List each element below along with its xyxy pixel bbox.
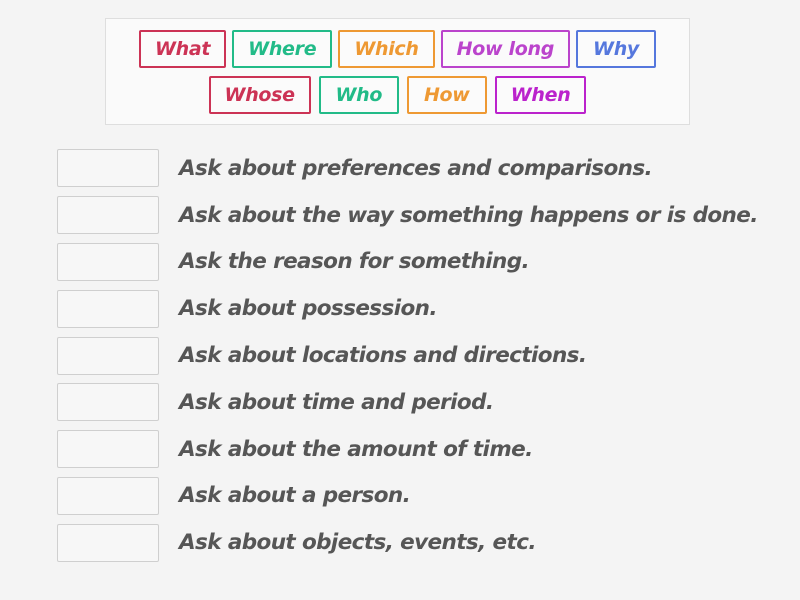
word-tile-label: Why [593,38,639,60]
word-tile-why[interactable]: Why [576,30,656,68]
answer-text: Ask about objects, events, etc. [179,530,536,555]
answer-row: Ask the reason for something. [57,239,777,286]
answer-row: Ask about objects, events, etc. [57,519,777,566]
answer-text: Ask about the way something happens or i… [179,203,758,228]
word-tile-label: What [155,38,210,60]
drop-zone-8[interactable] [57,477,159,515]
drop-zone-3[interactable] [57,243,159,281]
answer-row: Ask about time and period. [57,379,777,426]
drop-zone-7[interactable] [57,430,159,468]
word-tile-label: Which [354,38,418,60]
word-tile-label: How [424,84,470,106]
answer-list: Ask about preferences and comparisons.As… [57,145,777,566]
answer-text: Ask about possession. [179,296,437,321]
word-tile-who[interactable]: Who [319,76,399,114]
word-tile-label: Who [335,84,382,106]
word-tile-label: Where [248,38,316,60]
word-tile-what[interactable]: What [139,30,226,68]
answer-row: Ask about a person. [57,473,777,520]
answer-text: Ask about preferences and comparisons. [179,156,652,181]
drop-zone-4[interactable] [57,290,159,328]
drop-zone-1[interactable] [57,149,159,187]
answer-text: Ask about the amount of time. [179,437,533,462]
word-tile-which[interactable]: Which [338,30,434,68]
answer-row: Ask about the way something happens or i… [57,192,777,239]
answer-text: Ask about locations and directions. [179,343,586,368]
word-tile-label: Whose [225,84,295,106]
answer-text: Ask about a person. [179,483,410,508]
word-tile-where[interactable]: Where [232,30,332,68]
word-tile-how-long[interactable]: How long [441,30,570,68]
drop-zone-5[interactable] [57,337,159,375]
answer-text: Ask the reason for something. [179,249,529,274]
answer-row: Ask about possession. [57,285,777,332]
word-tile-when[interactable]: When [495,76,587,114]
answer-text: Ask about time and period. [179,390,493,415]
drop-zone-2[interactable] [57,196,159,234]
answer-row: Ask about locations and directions. [57,332,777,379]
word-tile-whose[interactable]: Whose [209,76,311,114]
word-bank-row-2: WhoseWhoHowWhen [112,72,683,118]
drop-zone-6[interactable] [57,383,159,421]
answer-row: Ask about the amount of time. [57,426,777,473]
word-bank-row-1: WhatWhereWhichHow longWhy [112,26,683,72]
word-bank-panel: WhatWhereWhichHow longWhyWhoseWhoHowWhen [105,18,690,125]
drop-zone-9[interactable] [57,524,159,562]
word-tile-label: How long [457,38,554,60]
word-tile-how[interactable]: How [407,76,487,114]
word-tile-label: When [511,84,571,106]
answer-row: Ask about preferences and comparisons. [57,145,777,192]
